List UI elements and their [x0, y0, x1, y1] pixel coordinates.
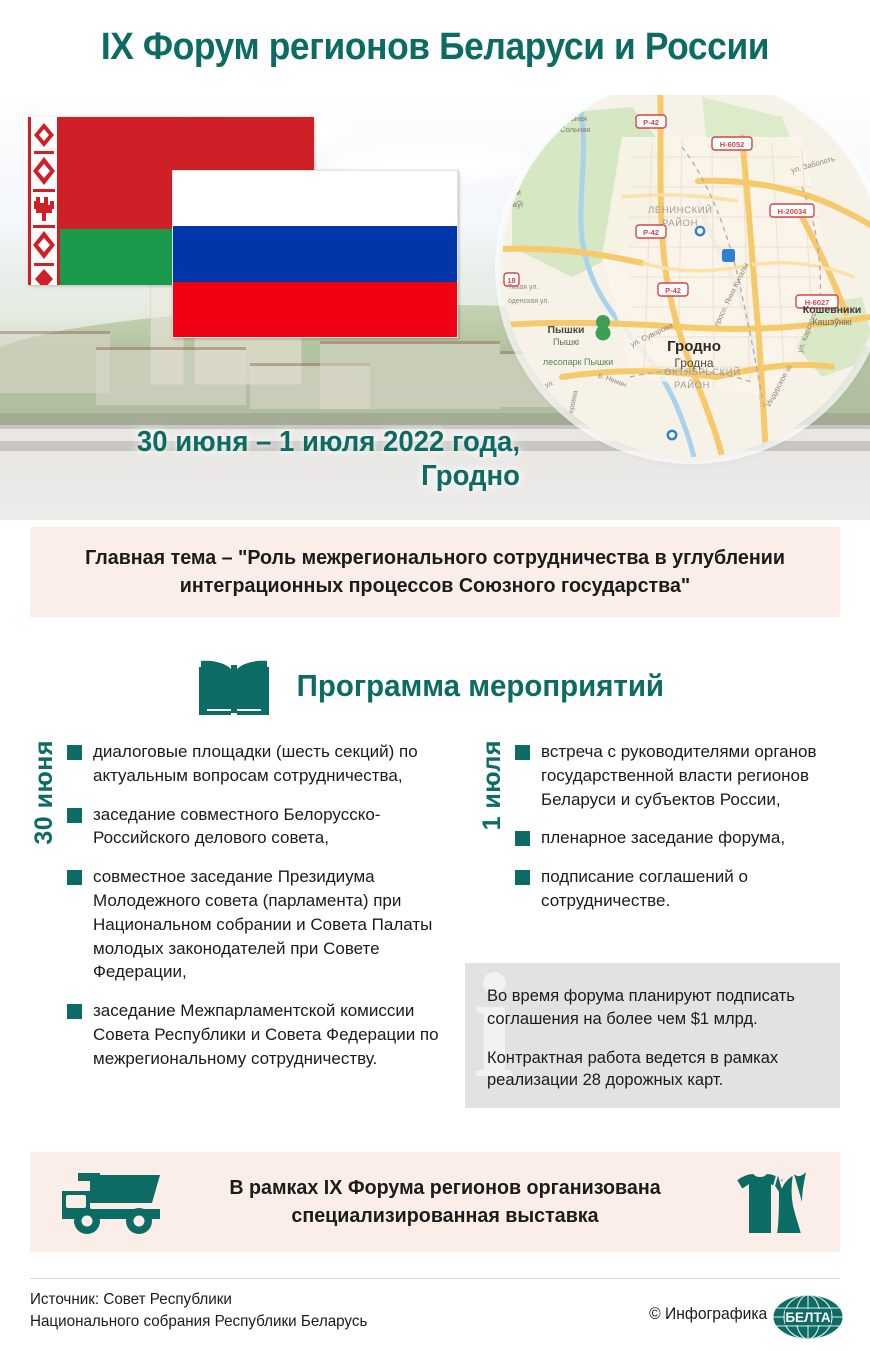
- svg-text:вьи: вьи: [508, 188, 521, 197]
- bullet-square-icon: [515, 870, 530, 885]
- svg-text:Тихая ул.: Тихая ул.: [508, 284, 538, 291]
- organizers-text: Организаторы форума – Совет Республики Н…: [32, 519, 612, 520]
- list-item: пленарное заседание форума,: [515, 826, 858, 850]
- program-header: Программа мероприятий: [0, 655, 870, 717]
- event-date-line2: Гродно: [26, 459, 520, 493]
- bullet-square-icon: [67, 745, 82, 760]
- program-column-day2: 1 июля встреча с руководителями органов …: [478, 740, 858, 928]
- program-column-day1: 30 июня диалоговые площадки (шесть секци…: [30, 740, 450, 1086]
- list-item: диалоговые площадки (шесть секций) по ак…: [67, 740, 450, 788]
- dump-truck-icon: [56, 1169, 168, 1235]
- svg-text:Пышкi: Пышкi: [553, 337, 579, 347]
- map-graphic: Р-42 Р-42 Р-42 Н-6052: [502, 95, 870, 457]
- svg-text:РАЙОН: РАЙОН: [674, 379, 710, 391]
- belta-logo: БЕЛТА: [772, 1294, 844, 1340]
- list-item: заседание совместного Белорусско-Российс…: [67, 803, 450, 851]
- fact-agreements-amount: Во время форума планируют подписать согл…: [465, 963, 840, 1031]
- svg-text:лаўi: лаўi: [508, 200, 523, 209]
- svg-text:Кашэўнiкi: Кашэўнiкi: [812, 317, 851, 327]
- svg-text:Р-42: Р-42: [665, 286, 681, 295]
- program-items-day2: встреча с руководителями органов государ…: [515, 740, 858, 928]
- source-line2: Национального собрания Республики Белару…: [30, 1311, 367, 1333]
- svg-text:ичи: ичи: [508, 362, 521, 371]
- exhibition-text: В рамках IX Форума регионов организована…: [179, 1174, 711, 1231]
- svg-text:лесопарк Пышки: лесопарк Пышки: [543, 357, 613, 367]
- program-heading: Программа мероприятий: [296, 668, 663, 704]
- svg-text:РАЙОН: РАЙОН: [662, 217, 698, 229]
- svg-text:ЛЕНИНСКИЙ: ЛЕНИНСКИЙ: [648, 204, 713, 216]
- bullet-square-icon: [67, 1004, 82, 1019]
- svg-text:Гродно: Гродно: [667, 338, 721, 355]
- svg-text:оденская ул.: оденская ул.: [508, 298, 549, 305]
- event-date-line1: 30 июня – 1 июля 2022 года,: [26, 425, 520, 459]
- list-item: подписание соглашений о сотрудничестве.: [515, 865, 858, 913]
- main-theme-banner: Главная тема – "Роль межрегионального со…: [30, 527, 840, 617]
- flag-russia-red-band: [173, 282, 457, 337]
- belta-logo-text: БЕЛТА: [785, 1310, 831, 1325]
- exhibition-line2: специализированная выставка: [291, 1204, 598, 1227]
- page-title: IX Форум регионов Беларуси и России: [30, 26, 839, 69]
- infographic-page: IX Форум регионов Беларуси и России: [0, 0, 870, 1351]
- list-item: совместное заседание Президиума Молодежн…: [67, 865, 450, 984]
- bullet-square-icon: [515, 745, 530, 760]
- main-theme-text: Главная тема – "Роль межрегионального со…: [46, 544, 824, 601]
- open-book-icon: [197, 655, 271, 717]
- svg-text:Гродна: Гродна: [674, 356, 714, 370]
- bullet-square-icon: [67, 808, 82, 823]
- program-items-day1: диалоговые площадки (шесть секций) по ак…: [67, 740, 450, 1086]
- bullet-square-icon: [515, 831, 530, 846]
- flag-russia-blue-band: [173, 226, 457, 281]
- svg-text:Скидельская ул.: Скидельская ул.: [502, 380, 555, 403]
- event-date: 30 июня – 1 июля 2022 года, Гродно: [26, 425, 520, 493]
- source-line1: Источник: Совет Республики: [30, 1289, 367, 1311]
- grodno-map-circle: Р-42 Р-42 Р-42 Н-6052: [502, 95, 870, 457]
- flag-belarus-ornament: [28, 117, 60, 285]
- forum-facts-box: i Во время форума планируют подписать со…: [465, 963, 840, 1108]
- clothing-icon: [722, 1164, 814, 1240]
- flag-russia: [172, 170, 458, 338]
- svg-text:Р-42: Р-42: [643, 228, 659, 237]
- svg-text:Р-42: Р-42: [643, 118, 659, 127]
- source-credit: Источник: Совет Республики Национального…: [30, 1289, 367, 1333]
- hero-section: Р-42 Р-42 Р-42 Н-6052: [0, 95, 870, 520]
- day-label-30-june: 30 июня: [30, 740, 59, 845]
- list-item: встреча с руководителями органов государ…: [515, 740, 858, 811]
- infographic-credit: © Инфографика: [649, 1305, 767, 1324]
- list-item: заседание Межпарламентской комиссии Сове…: [67, 999, 450, 1070]
- exhibition-banner: В рамках IX Форума регионов организована…: [30, 1152, 840, 1252]
- svg-text:ы: ы: [508, 373, 514, 382]
- bullet-square-icon: [67, 870, 82, 885]
- day-label-1-july: 1 июля: [478, 740, 507, 830]
- footer-divider: [30, 1278, 840, 1279]
- svg-text:Пышки: Пышки: [548, 324, 585, 336]
- flag-russia-white-band: [173, 171, 457, 226]
- svg-text:Н-20034: Н-20034: [778, 207, 808, 216]
- fact-roadmaps: Контрактная работа ведется в рамках реал…: [465, 1031, 840, 1093]
- svg-text:ва Сольная: ва Сольная: [550, 125, 590, 134]
- svg-text:Сольная: Сольная: [557, 114, 587, 123]
- svg-text:Н-6052: Н-6052: [720, 140, 745, 149]
- exhibition-line1: В рамках IX Форума регионов организована: [229, 1176, 660, 1199]
